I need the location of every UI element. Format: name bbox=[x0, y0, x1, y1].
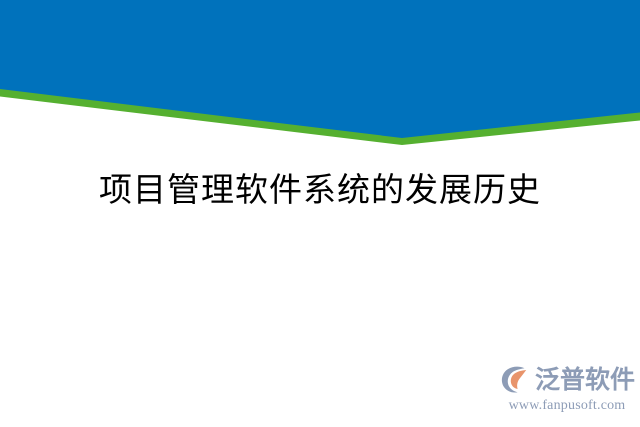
presentation-slide: 项目管理软件系统的发展历史 泛普软件 www.fanpusoft.com bbox=[0, 0, 640, 427]
brand-name: 泛普软件 bbox=[535, 366, 635, 394]
brand-lockup: 泛普软件 bbox=[498, 363, 634, 397]
page-title: 项目管理软件系统的发展历史 bbox=[99, 168, 541, 214]
page-title-container: 项目管理软件系统的发展历史 bbox=[0, 168, 640, 214]
chevron-blue-shape bbox=[0, 0, 640, 138]
chevron-banner-shape bbox=[0, 0, 640, 150]
fanpu-circle-logo-glyph bbox=[500, 365, 532, 395]
fanpu-circle-logo-icon bbox=[500, 365, 532, 395]
chevron-banner bbox=[0, 0, 640, 150]
brand-url: www.fanpusoft.com bbox=[498, 397, 634, 414]
brand-watermark: 泛普软件 www.fanpusoft.com bbox=[498, 363, 634, 421]
